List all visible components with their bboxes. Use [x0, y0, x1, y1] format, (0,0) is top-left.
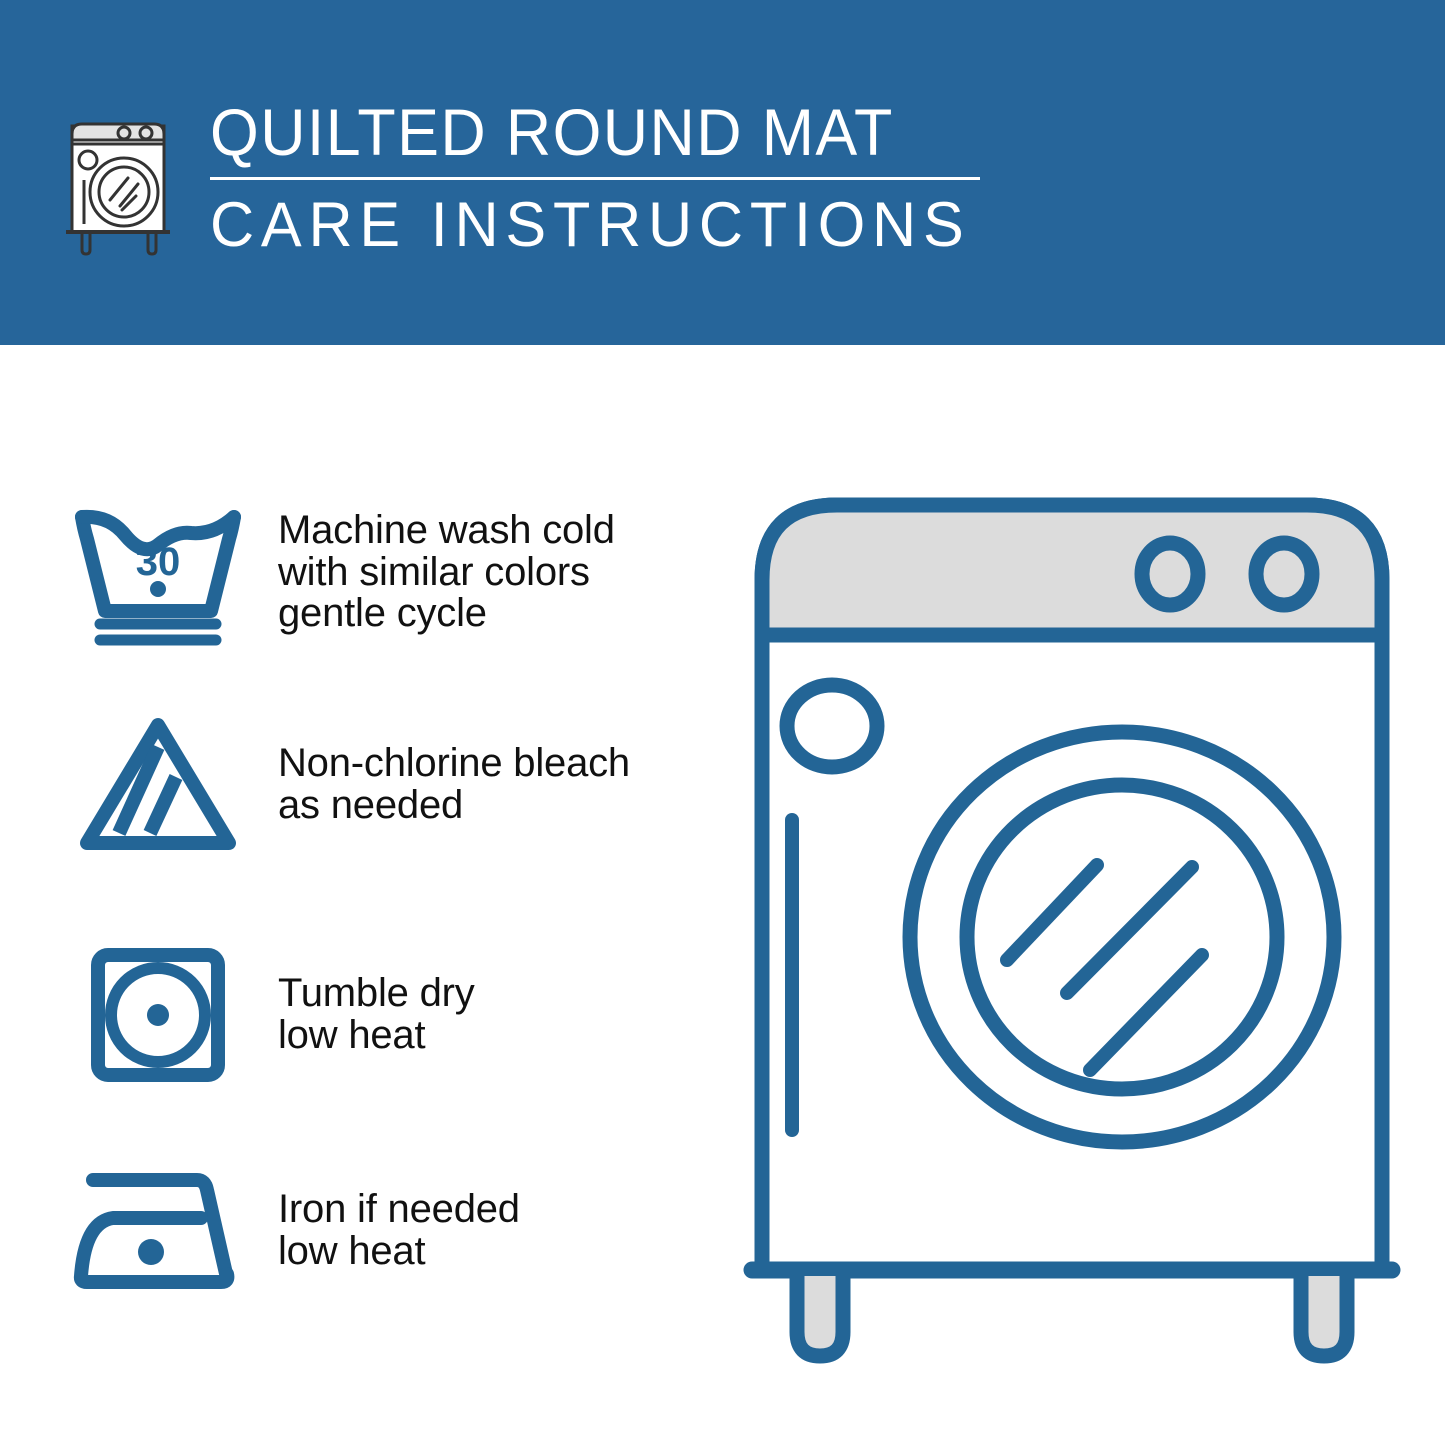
care-line: with similar colors [278, 552, 722, 594]
care-line: low heat [278, 1231, 722, 1273]
title-divider [210, 177, 980, 180]
control-panel[interactable] [762, 505, 1382, 635]
page-subtitle: CARE INSTRUCTIONS [210, 190, 971, 260]
title-block: QUILTED ROUND MAT CARE INSTRUCTIONS [210, 96, 994, 260]
care-row-bleach: Non-chlorine bleach as needed [0, 692, 722, 877]
page-title: QUILTED ROUND MAT [210, 96, 955, 168]
care-line: Iron if needed [278, 1189, 722, 1231]
care-text-bleach: Non-chlorine bleach as needed [278, 743, 722, 826]
machine-wash-30-gentle-icon: 30 [69, 499, 247, 647]
wash-temperature-label: 30 [136, 540, 181, 584]
care-icon-wrapper [58, 711, 258, 859]
care-line: low heat [278, 1015, 722, 1057]
care-line: as needed [278, 785, 722, 827]
care-text-machine-wash: Machine wash cold with similar colors ge… [278, 510, 722, 635]
care-instructions-page: QUILTED ROUND MAT CARE INSTRUCTIONS 30 [0, 0, 1445, 1445]
page-header: QUILTED ROUND MAT CARE INSTRUCTIONS [0, 0, 1445, 345]
care-line: Non-chlorine bleach [278, 743, 722, 785]
care-text-tumble-dry: Tumble dry low heat [278, 973, 722, 1056]
care-icon-wrapper [58, 941, 258, 1089]
tumble-dry-low-heat-icon [84, 941, 232, 1089]
care-line: Tumble dry [278, 973, 722, 1015]
washing-machine-icon [62, 104, 184, 256]
header-content: QUILTED ROUND MAT CARE INSTRUCTIONS [62, 96, 994, 260]
leg-left [797, 1276, 843, 1356]
care-icon-wrapper [58, 1166, 258, 1296]
care-text-iron: Iron if needed low heat [278, 1189, 722, 1272]
care-line: gentle cycle [278, 593, 722, 635]
iron-low-heat-icon [69, 1166, 247, 1296]
washing-machine-illustration [722, 470, 1422, 1370]
care-row-iron: Iron if needed low heat [0, 1138, 722, 1323]
care-row-tumble-dry: Tumble dry low heat [0, 922, 722, 1107]
care-row-machine-wash: 30 Machine wash cold with similar colors… [0, 470, 722, 675]
care-line: Machine wash cold [278, 510, 722, 552]
non-chlorine-bleach-triangle-icon [73, 711, 243, 859]
leg-right [1301, 1276, 1347, 1356]
care-icon-wrapper: 30 [58, 499, 258, 647]
